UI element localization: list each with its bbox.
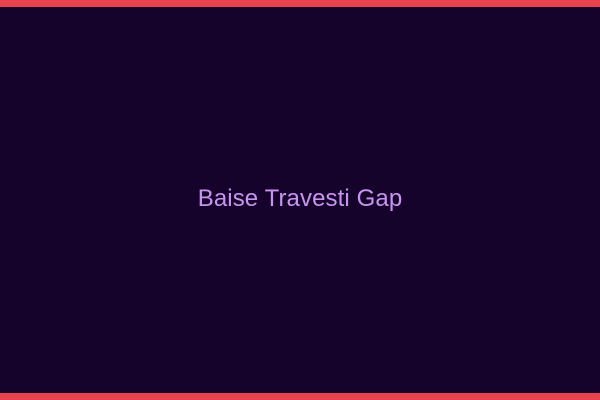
placeholder-banner: Baise Travesti Gap <box>0 0 600 400</box>
bottom-accent-band <box>0 393 600 400</box>
banner-content-area: Baise Travesti Gap <box>0 7 600 393</box>
banner-caption-text: Baise Travesti Gap <box>198 185 403 214</box>
top-accent-band <box>0 0 600 7</box>
